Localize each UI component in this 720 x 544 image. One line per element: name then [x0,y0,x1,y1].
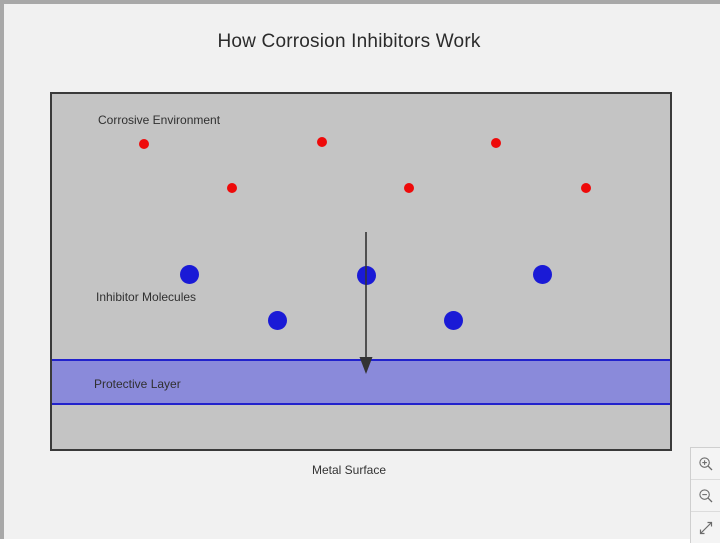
page-title: How Corrosion Inhibitors Work [4,31,694,53]
zoom-out-icon [698,488,714,504]
zoom-out-button[interactable] [691,480,720,512]
expand-button[interactable] [691,512,720,544]
corrosion-diagram: Protective Layer Corrosive Environment I… [50,92,672,451]
diffusion-arrow [52,94,672,451]
zoom-control-rail [690,447,720,543]
zoom-in-button[interactable] [691,448,720,480]
zoom-in-icon [698,456,714,472]
diagram-canvas[interactable]: How Corrosion Inhibitors Work Protective… [4,4,694,539]
diagram-caption: Metal Surface [4,463,694,477]
expand-icon [698,520,714,536]
image-viewer: How Corrosion Inhibitors Work Protective… [0,0,720,539]
